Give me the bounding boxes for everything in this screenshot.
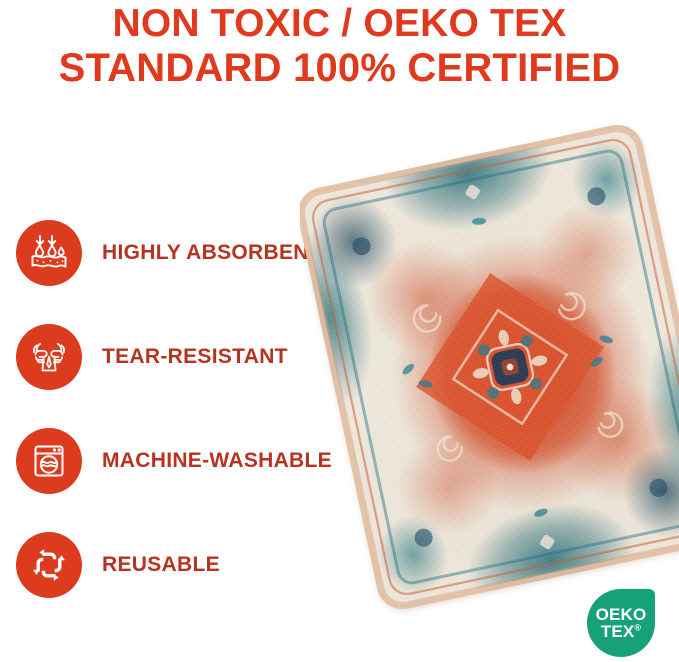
- feature-label: REUSABLE: [102, 553, 220, 577]
- feature-item-tear-resistant: TEAR-RESISTANT: [16, 324, 346, 390]
- feature-label: TEAR-RESISTANT: [102, 345, 288, 369]
- feature-label: HIGHLY ABSORBENT: [102, 241, 322, 265]
- feature-item-machine-washable: MACHINE-WASHABLE: [16, 428, 346, 494]
- oeko-tex-line-1: OEKO: [596, 606, 647, 623]
- page-title: NON TOXIC / OEKO TEX STANDARD 100% CERTI…: [0, 2, 679, 90]
- feature-item-reusable: REUSABLE: [16, 532, 346, 598]
- oeko-tex-badge: OEKO TEX®: [587, 589, 655, 657]
- feature-icon-badge: [16, 428, 82, 494]
- oeko-tex-line-2: TEX®: [601, 623, 642, 640]
- feature-icon-badge: [16, 324, 82, 390]
- registered-trademark-icon: ®: [634, 622, 641, 632]
- hands-pulling-fabric-icon: [28, 336, 70, 378]
- feature-item-highly-absorbent: HIGHLY ABSORBENT: [16, 220, 346, 286]
- rug-binding-edge: [300, 120, 679, 614]
- feature-list: HIGHLY ABSORBENT: [16, 220, 346, 598]
- recycle-arrows-icon: [29, 545, 69, 585]
- water-droplets-absorb-icon: [28, 232, 70, 274]
- feature-icon-badge: [16, 220, 82, 286]
- headline-line-2: STANDARD 100% CERTIFIED: [0, 46, 679, 90]
- headline-line-1: NON TOXIC / OEKO TEX: [0, 2, 679, 46]
- product-image: [300, 100, 679, 620]
- persian-oriental-area-rug: [300, 120, 679, 614]
- washing-machine-icon: [29, 441, 69, 481]
- feature-label: MACHINE-WASHABLE: [102, 449, 332, 473]
- feature-icon-badge: [16, 532, 82, 598]
- oeko-tex-line-2-text: TEX: [601, 622, 635, 641]
